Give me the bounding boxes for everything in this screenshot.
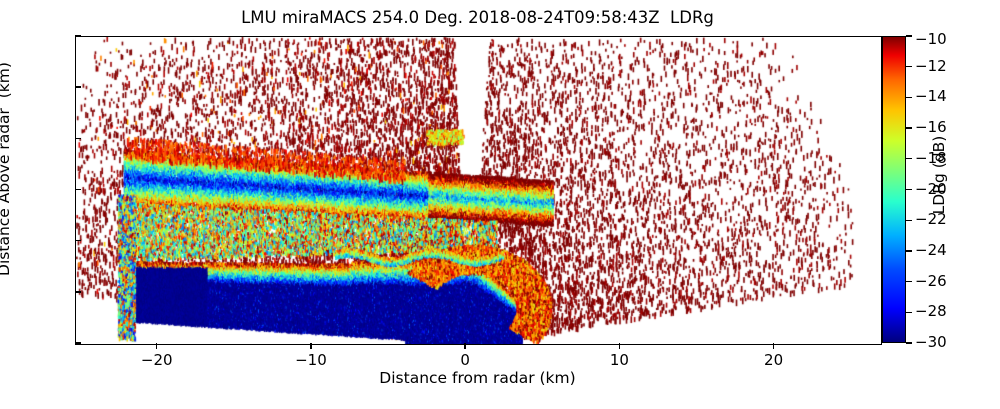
- colorbar-tick-mark: [906, 281, 912, 282]
- x-tick-label: 0: [430, 352, 500, 368]
- colorbar: −30−28−26−24−22−20−18−16−14−12−10 LDRg (…: [882, 36, 906, 343]
- y-tick-mark: [75, 86, 81, 87]
- x-tick-label: −10: [276, 352, 346, 368]
- plot-axes-area: [75, 36, 882, 345]
- radar-rhi-figure: LMU miraMACS 254.0 Deg. 2018-08-24T09:58…: [0, 0, 1000, 400]
- x-tick-label: 10: [584, 352, 654, 368]
- page-title: LMU miraMACS 254.0 Deg. 2018-08-24T09:58…: [0, 8, 955, 28]
- colorbar-tick-mark: [906, 127, 912, 128]
- x-tick-label: 20: [739, 352, 809, 368]
- radar-heatmap-canvas: [76, 37, 881, 344]
- colorbar-tick-mark: [906, 342, 912, 343]
- y-axis-label: Distance Above radar (km): [0, 0, 13, 409]
- colorbar-tick-mark: [906, 66, 912, 67]
- x-tick-mark: [773, 343, 774, 349]
- x-tick-mark: [464, 343, 465, 349]
- x-axis-label: Distance from radar (km): [75, 369, 880, 387]
- colorbar-gradient: [882, 36, 906, 343]
- colorbar-tick-mark: [906, 220, 912, 221]
- x-tick-mark: [619, 343, 620, 349]
- colorbar-tick-mark: [906, 97, 912, 98]
- x-tick-mark: [156, 343, 157, 349]
- colorbar-tick-label: −26: [915, 274, 947, 289]
- y-tick-mark: [75, 35, 81, 36]
- y-tick-mark: [75, 189, 81, 190]
- y-tick-mark: [75, 138, 81, 139]
- colorbar-tick-mark: [906, 250, 912, 251]
- colorbar-tick-label: −28: [915, 304, 947, 319]
- colorbar-tick-mark: [906, 312, 912, 313]
- colorbar-tick-mark: [906, 189, 912, 190]
- y-tick-mark: [75, 342, 81, 343]
- colorbar-label: LDRg (dB): [930, 75, 948, 275]
- colorbar-tick-mark: [906, 35, 912, 36]
- y-tick-mark: [75, 291, 81, 292]
- y-tick-mark: [75, 240, 81, 241]
- colorbar-tick-label: −30: [915, 335, 947, 350]
- colorbar-tick-label: −12: [915, 59, 947, 74]
- x-tick-mark: [310, 343, 311, 349]
- colorbar-tick-mark: [906, 158, 912, 159]
- colorbar-tick-label: −10: [915, 32, 947, 47]
- x-tick-label: −20: [122, 352, 192, 368]
